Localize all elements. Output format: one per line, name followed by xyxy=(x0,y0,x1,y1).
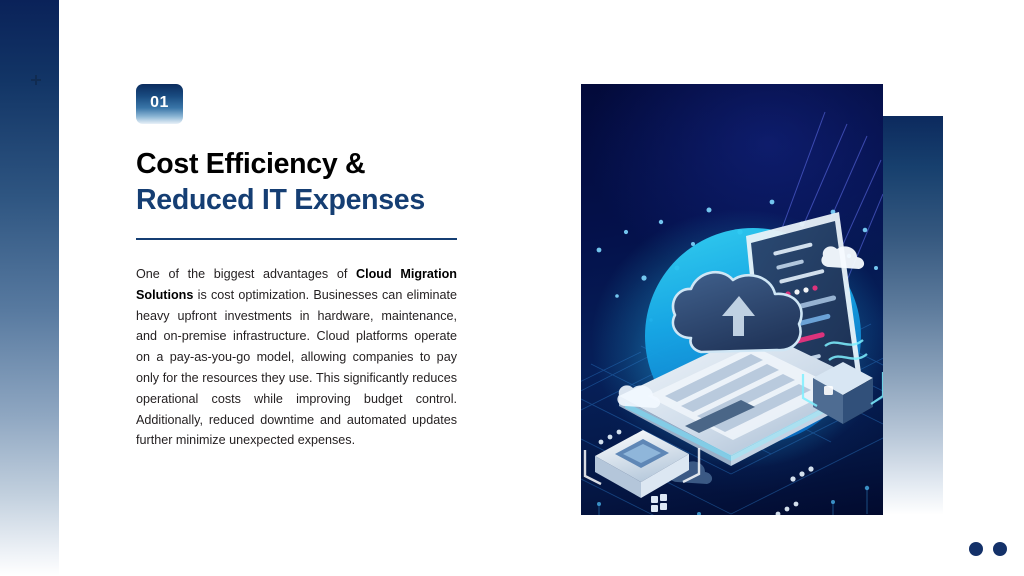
body-text-part-2: is cost optimization. Businesses can eli… xyxy=(136,288,457,448)
pagination-dots[interactable] xyxy=(969,542,1007,556)
section-number-label: 01 xyxy=(150,95,169,113)
section-number-badge: 01 xyxy=(136,84,183,124)
pagination-dot-2[interactable] xyxy=(993,542,1007,556)
right-gradient-panel xyxy=(883,116,943,515)
body-text-part-1: One of the biggest advantages of xyxy=(136,267,356,281)
left-gradient-strip xyxy=(0,0,59,576)
pagination-dot-1[interactable] xyxy=(969,542,983,556)
page-title: Cost Efficiency & Reduced IT Expenses xyxy=(136,146,458,219)
title-underline-rule xyxy=(136,238,457,240)
page-title-line-2: Reduced IT Expenses xyxy=(136,182,458,218)
sparkle-icon xyxy=(31,75,41,85)
cloud-migration-illustration xyxy=(581,84,883,515)
page-title-line-1: Cost Efficiency & xyxy=(136,146,458,182)
slide-canvas: 01 Cost Efficiency & Reduced IT Expenses… xyxy=(0,0,1024,576)
body-paragraph: One of the biggest advantages of Cloud M… xyxy=(136,264,457,451)
content-column: 01 Cost Efficiency & Reduced IT Expenses… xyxy=(136,84,458,464)
